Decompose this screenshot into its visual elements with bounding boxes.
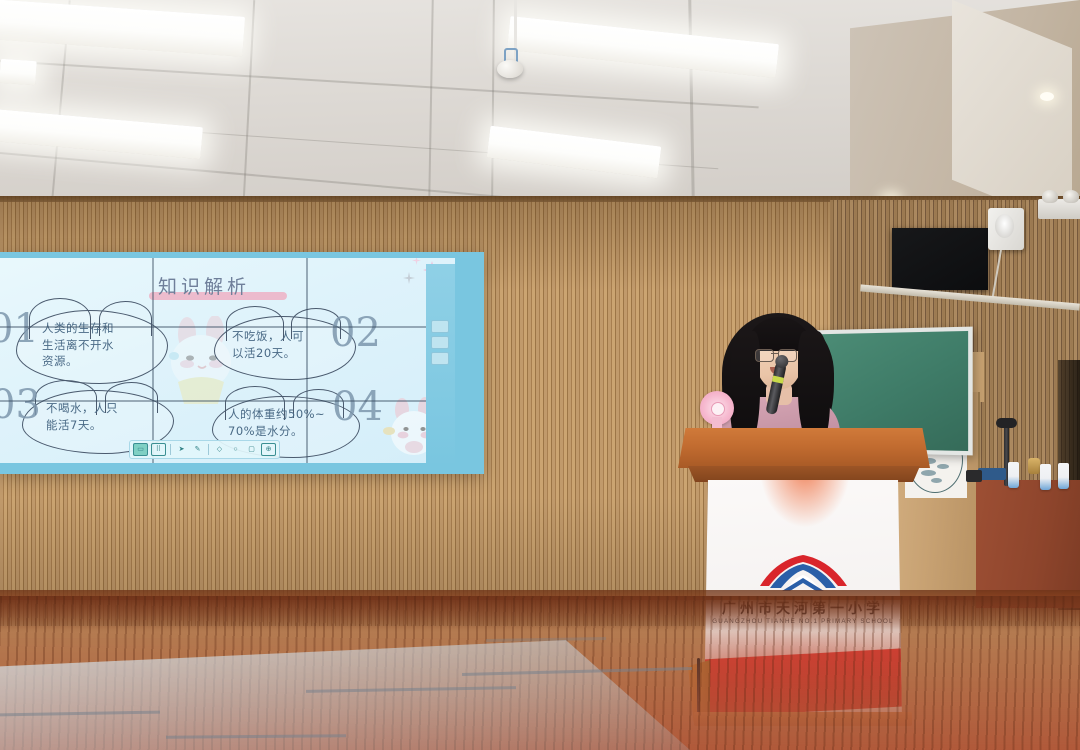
floor-shadow (0, 596, 1080, 632)
gold-fitting (1028, 458, 1040, 474)
black-speaker (892, 228, 988, 290)
emergency-light (1038, 199, 1080, 219)
white-wall-speaker (988, 208, 1024, 250)
video-wall-seam (0, 400, 455, 402)
emergency-lamp-icon (1063, 190, 1079, 203)
slide-canvas[interactable]: 知识解析 (0, 258, 455, 463)
video-wall-seam (0, 326, 455, 328)
whiteboard-icon[interactable]: ▭ (133, 443, 148, 456)
water-bottle (1008, 462, 1019, 488)
pebble-icon (931, 478, 942, 483)
screenshot-icon[interactable]: ▢ (245, 444, 258, 455)
pebble-icon (937, 464, 949, 469)
scroll-mid-button[interactable] (431, 336, 449, 349)
projection-video-wall[interactable]: 知识解析 (0, 252, 484, 474)
podium-top-surface (678, 428, 930, 468)
podium-light-glow (759, 480, 850, 528)
ceiling-grid-line (491, 0, 495, 200)
video-wall-seam (152, 258, 154, 463)
ceiling-light-panel (0, 0, 245, 57)
glasses-bridge-icon (771, 353, 778, 354)
glasses-left-lens-icon (755, 349, 774, 362)
speaker-cone-icon (995, 214, 1014, 238)
photo-scene: 知识解析 (0, 0, 1080, 750)
ceiling (0, 0, 1080, 205)
slide-side-controls[interactable] (426, 264, 455, 463)
apps-grid-icon[interactable]: ⠿ (151, 443, 166, 456)
toolbar-divider (170, 444, 171, 455)
slide-toolbar[interactable]: ▭ ⠿ ➤ ✎ ◇ ○ ▢ ⊕ (129, 440, 280, 459)
sparkle-grey-icon (403, 272, 415, 284)
scroll-down-button[interactable] (431, 352, 449, 365)
slide-item-number-3: 03 (0, 382, 41, 428)
toolbar-divider (208, 444, 209, 455)
ceiling-grid-line (428, 0, 433, 200)
cursor-icon[interactable]: ➤ (175, 444, 188, 455)
dark-object (966, 470, 982, 482)
fan-hub-icon (711, 402, 725, 416)
water-bottle (1040, 464, 1051, 490)
blue-object (978, 468, 1006, 480)
ceiling-light-panel (0, 59, 37, 85)
ceiling-light-panel (487, 126, 662, 179)
ceiling-grid-line (688, 0, 694, 200)
more-icon[interactable]: ⊕ (261, 443, 276, 456)
pebble-icon (921, 470, 936, 476)
video-wall-seam (306, 258, 308, 463)
ceiling-grid-line (0, 60, 759, 108)
water-bottle (1058, 463, 1069, 489)
ceiling-light-panel (0, 109, 203, 159)
microphone-band (772, 376, 784, 384)
eraser-icon[interactable]: ◇ (213, 444, 226, 455)
slide-title: 知识解析 (158, 272, 250, 299)
slide-item-text-4: 人的体重约50%~ 70%是水分。 (228, 406, 346, 439)
microphone-stand-head (996, 418, 1017, 428)
school-logo-icon (756, 552, 852, 592)
slide-item-text-2: 不吃饭，人可 以活20天。 (232, 328, 342, 361)
ceiling-light-panel (507, 16, 779, 78)
slide-item-text-3: 不喝水，人只 能活7天。 (46, 400, 164, 433)
emergency-lamp-icon (1042, 190, 1058, 203)
ceiling-downlight (1040, 92, 1054, 101)
podium-top-edge (688, 466, 920, 482)
zoom-icon[interactable]: ○ (229, 444, 242, 455)
scroll-up-button[interactable] (431, 320, 449, 333)
pen-icon[interactable]: ✎ (191, 444, 204, 455)
projector-sensor-icon (497, 60, 523, 78)
sparkle-pink-icon (412, 258, 421, 265)
side-table (976, 480, 1080, 608)
ceiling-grid-line (243, 0, 255, 200)
slide-item-number-1: 01 (0, 306, 39, 352)
